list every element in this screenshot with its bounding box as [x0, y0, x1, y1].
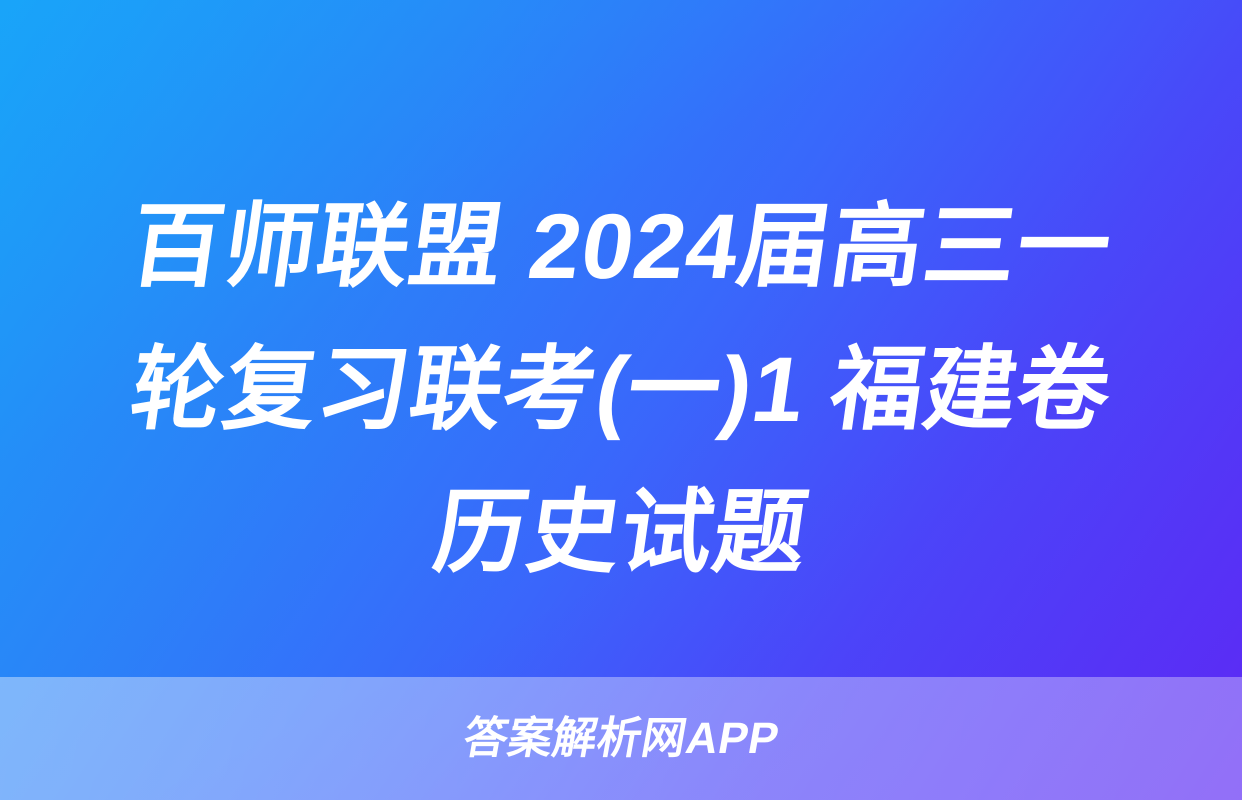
- exam-cover-banner: 百师联盟 2024届高三一 轮复习联考(一)1 福建卷 历史试题 答案解析网AP…: [0, 0, 1242, 800]
- title-line-3: 历史试题: [50, 462, 1192, 605]
- footer-watermark-band: 答案解析网APP: [0, 677, 1242, 800]
- footer-watermark-text: 答案解析网APP: [460, 717, 782, 761]
- title-line-1: 百师联盟 2024届高三一: [50, 176, 1192, 319]
- page-title: 百师联盟 2024届高三一 轮复习联考(一)1 福建卷 历史试题: [0, 176, 1242, 605]
- title-line-2: 轮复习联考(一)1 福建卷: [50, 319, 1192, 462]
